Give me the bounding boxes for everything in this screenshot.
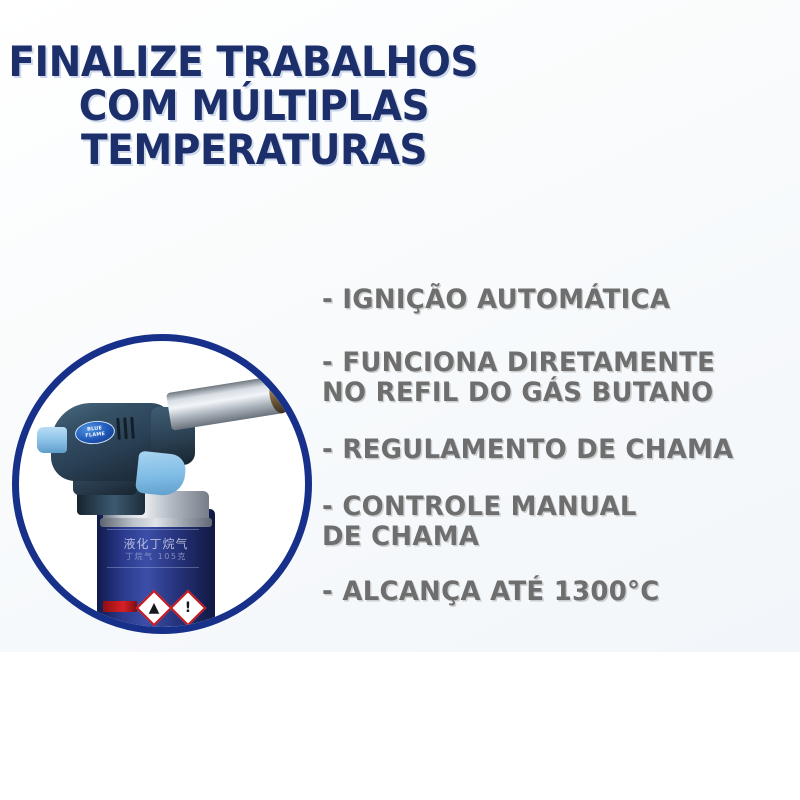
feature-text-continued: DE CHAMA	[322, 523, 773, 550]
can-divider-line-2	[107, 567, 199, 568]
can-divider-line	[107, 529, 199, 530]
feature-item-regulamento-de-chama: - REGULAMENTO DE CHAMA	[322, 436, 792, 463]
feature-item-controle-manual: - CONTROLE MANUAL DE CHAMA	[322, 493, 792, 550]
chrome-nozzle	[166, 374, 290, 430]
vent-slot	[130, 417, 135, 439]
feature-list: - IGNIÇÃO AUTOMÁTICA - FUNCIONA DIRETAME…	[322, 286, 792, 605]
flame-glyph: ▲	[143, 597, 165, 619]
torch-vent-slots	[116, 416, 143, 440]
can-label-chinese-sub: 丁烷气 105克	[97, 551, 215, 562]
gas-adjust-knob[interactable]	[37, 427, 67, 453]
feature-text-continued: NO REFIL DO GÁS BUTANO	[322, 379, 773, 406]
bottom-whitespace	[0, 652, 800, 800]
hazard-flammable-icon: ▲	[136, 590, 173, 627]
feature-text: - CONTROLE MANUAL	[322, 493, 773, 520]
can-label-chinese: 液化丁烷气	[97, 535, 215, 552]
vent-slot	[116, 418, 121, 440]
butane-gas-can: 液化丁烷气 丁烷气 105克 ▲ ! 净含量	[97, 509, 215, 634]
vent-slot	[123, 417, 128, 439]
feature-text: - FUNCIONA DIRETAMENTE	[322, 349, 773, 376]
feature-item-alcanca-1300c: - ALCANÇA ATÉ 1300°C	[322, 578, 792, 605]
feature-item-ignicao-automatica: - IGNIÇÃO AUTOMÁTICA	[322, 286, 792, 313]
feature-text: - ALCANÇA ATÉ 1300°C	[322, 578, 773, 605]
feature-item-funciona-diretamente: - FUNCIONA DIRETAMENTE NO REFIL DO GÁS B…	[322, 349, 792, 406]
brand-badge-text: BLUEFLAME	[85, 426, 106, 440]
product-feature-poster: FINALIZE TRABALHOS COM MÚLTIPLAS TEMPERA…	[0, 0, 800, 800]
headline-line-1: FINALIZE TRABALHOS	[8, 42, 495, 82]
feature-text: - IGNIÇÃO AUTOMÁTICA	[322, 286, 773, 313]
headline-line-2: COM MÚLTIPLAS	[12, 86, 496, 126]
feature-text: - REGULAMENTO DE CHAMA	[322, 436, 773, 463]
headline-line-3: TEMPERATURAS	[12, 130, 496, 170]
hazard-warning-icon: !	[170, 590, 207, 627]
exclamation-glyph: !	[177, 597, 199, 619]
product-image-circle: 液化丁烷气 丁烷气 105克 ▲ ! 净含量 BLUEFLAME	[12, 334, 312, 634]
nozzle-tip	[267, 374, 293, 415]
headline-block: FINALIZE TRABALHOS COM MÚLTIPLAS TEMPERA…	[0, 42, 514, 170]
torch-illustration: 液化丁烷气 丁烷气 105克 ▲ ! 净含量 BLUEFLAME	[19, 341, 305, 627]
can-red-band	[103, 601, 137, 612]
